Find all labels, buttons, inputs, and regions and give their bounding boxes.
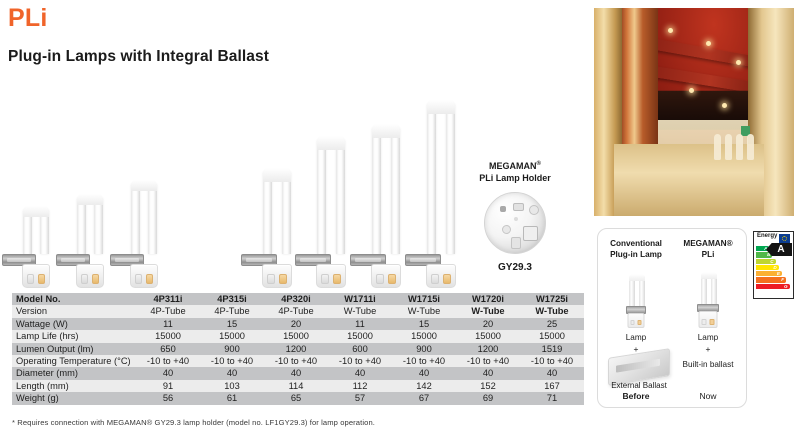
cell-weight-0: 56: [136, 392, 200, 404]
cell-lumen-2: 1200: [264, 343, 328, 355]
cell-wattage-2: 20: [264, 318, 328, 330]
cell-diameter-0: 40: [136, 367, 200, 379]
cell-temp-1: -10 to +40: [200, 355, 264, 367]
table-row-lamp-life: Lamp Life (hrs) 15000 15000 15000 15000 …: [12, 330, 584, 342]
table-row-model: Model No. 4P311i 4P315i 4P320i W1711i W1…: [12, 293, 584, 305]
holder-caption: PLi Lamp Holder: [455, 172, 575, 184]
cell-wattage-0: 11: [136, 318, 200, 330]
cell-length-2: 114: [264, 380, 328, 392]
cell-temp-2: -10 to +40: [264, 355, 328, 367]
cell-wattage-3: 11: [328, 318, 392, 330]
cell-lamplife-0: 15000: [136, 330, 200, 342]
conventional-title-line2: Plug-in Lamp: [602, 250, 670, 261]
lamp-4P320i: [126, 180, 162, 288]
cell-length-4: 142: [392, 380, 456, 392]
pli-title-line1: MEGAMAN®: [674, 239, 742, 250]
energy-bar-d: [756, 265, 791, 270]
cell-diameter-5: 40: [456, 367, 520, 379]
pli-item-builtin-ballast: Built-in ballast: [674, 359, 742, 371]
cell-wattage-6: 25: [520, 318, 584, 330]
row-label-model: Model No.: [12, 293, 136, 305]
table-row-diameter: Diameter (mm) 40 40 40 40 40 40 40: [12, 367, 584, 379]
energy-label: Energy A: [753, 231, 794, 299]
table-row-weight: Weight (g) 56 61 65 57 67 69 71: [12, 392, 584, 404]
eu-flag-icon: [779, 234, 790, 243]
pli-plus: +: [674, 344, 742, 355]
cell-model-4: W1715i: [392, 293, 456, 305]
cell-wattage-1: 15: [200, 318, 264, 330]
cell-model-6: W1725i: [520, 293, 584, 305]
page-title: PLi: [8, 6, 48, 31]
holder-brand: MEGAMAN: [489, 161, 537, 171]
cell-model-2: 4P320i: [264, 293, 328, 305]
cell-version-2: 4P-Tube: [264, 305, 328, 317]
specification-table: Model No. 4P311i 4P315i 4P320i W1711i W1…: [12, 293, 584, 405]
cell-lamplife-1: 15000: [200, 330, 264, 342]
cell-version-3: W-Tube: [328, 305, 392, 317]
lamp-W1720i: [367, 124, 405, 288]
cell-model-1: 4P315i: [200, 293, 264, 305]
lamp-W1711i: [258, 168, 296, 288]
cell-diameter-6: 40: [520, 367, 584, 379]
table-row-operating-temperature: Operating Temperature (°C) -10 to +40 -1…: [12, 355, 584, 367]
conventional-lamp-icon: [602, 266, 670, 328]
registered-mark: ®: [537, 161, 541, 167]
lamp-W1715i: [312, 136, 350, 288]
row-label-lamp-life: Lamp Life (hrs): [12, 330, 136, 342]
cell-lumen-5: 1200: [456, 343, 520, 355]
comparison-column-pli: MEGAMAN® PLi Lamp + Built-in ballast: [674, 239, 742, 371]
cell-length-3: 112: [328, 380, 392, 392]
energy-label-word: Energy: [757, 234, 777, 240]
lamp-holder-icon: [484, 192, 546, 254]
cell-lamplife-4: 15000: [392, 330, 456, 342]
cell-model-3: W1711i: [328, 293, 392, 305]
cell-version-0: 4P-Tube: [136, 305, 200, 317]
cell-weight-1: 61: [200, 392, 264, 404]
comparison-column-conventional: Conventional Plug-in Lamp Lamp +: [602, 239, 670, 355]
cell-model-5: W1720i: [456, 293, 520, 305]
table-row-length: Length (mm) 91 103 114 112 142 152 167: [12, 380, 584, 392]
cell-temp-0: -10 to +40: [136, 355, 200, 367]
cell-lamplife-5: 15000: [456, 330, 520, 342]
table-row-lumen-output: Lumen Output (lm) 650 900 1200 600 900 1…: [12, 343, 584, 355]
cell-length-0: 91: [136, 380, 200, 392]
cell-weight-2: 65: [264, 392, 328, 404]
row-label-wattage: Wattage (W): [12, 318, 136, 330]
cell-lumen-0: 650: [136, 343, 200, 355]
cell-diameter-1: 40: [200, 367, 264, 379]
cell-lumen-4: 900: [392, 343, 456, 355]
comparison-foot-now: Now: [674, 391, 742, 401]
cell-diameter-3: 40: [328, 367, 392, 379]
cell-lamplife-6: 15000: [520, 330, 584, 342]
conventional-item-lamp: Lamp: [602, 332, 670, 344]
cell-version-5: W-Tube: [456, 305, 520, 317]
cell-length-6: 167: [520, 380, 584, 392]
comparison-foot-before: Before: [602, 391, 670, 401]
energy-bar-e: [756, 271, 791, 276]
cell-temp-3: -10 to +40: [328, 355, 392, 367]
cell-weight-5: 69: [456, 392, 520, 404]
cell-temp-4: -10 to +40: [392, 355, 456, 367]
table-row-wattage: Wattage (W) 11 15 20 11 15 20 25: [12, 318, 584, 330]
cell-weight-6: 71: [520, 392, 584, 404]
cell-lumen-6: 1519: [520, 343, 584, 355]
cell-weight-3: 57: [328, 392, 392, 404]
product-datasheet-page: PLi Plug-in Lamps with Integral Ballast …: [0, 0, 800, 441]
pli-item-lamp: Lamp: [674, 332, 742, 344]
pli-title-line2: PLi: [674, 250, 742, 261]
lamp-4P311i: [18, 206, 54, 288]
cell-length-1: 103: [200, 380, 264, 392]
cell-temp-6: -10 to +40: [520, 355, 584, 367]
holder-brand-line: MEGAMAN®: [455, 158, 575, 172]
cell-wattage-4: 15: [392, 318, 456, 330]
lamp-4P315i: [72, 194, 108, 288]
row-label-operating-temperature: Operating Temperature (°C): [12, 355, 136, 367]
lamp-holder-block: MEGAMAN® PLi Lamp Holder GY29.3: [455, 158, 575, 273]
cell-wattage-5: 20: [456, 318, 520, 330]
cell-version-1: 4P-Tube: [200, 305, 264, 317]
row-label-diameter: Diameter (mm): [12, 367, 136, 379]
energy-rating-value: A: [773, 245, 784, 255]
pli-lamp-icon: [674, 266, 742, 328]
before-after-comparison-panel: Conventional Plug-in Lamp Lamp + MEGAMAN…: [597, 228, 747, 408]
cell-length-5: 152: [456, 380, 520, 392]
cell-lumen-1: 900: [200, 343, 264, 355]
table-row-version: Version 4P-Tube 4P-Tube 4P-Tube W-Tube W…: [12, 305, 584, 317]
cell-weight-4: 67: [392, 392, 456, 404]
cell-lamplife-2: 15000: [264, 330, 328, 342]
cell-version-4: W-Tube: [392, 305, 456, 317]
external-ballast-label: External Ballast: [602, 381, 676, 390]
conventional-title-line1: Conventional: [602, 239, 670, 250]
row-label-weight: Weight (g): [12, 392, 136, 404]
page-subtitle: Plug-in Lamps with Integral Ballast: [8, 48, 269, 66]
cell-diameter-4: 40: [392, 367, 456, 379]
cell-version-6: W-Tube: [520, 305, 584, 317]
footnote: * Requires connection with MEGAMAN® GY29…: [12, 418, 375, 427]
row-label-lumen-output: Lumen Output (lm): [12, 343, 136, 355]
energy-bar-g: [756, 284, 791, 289]
row-label-length: Length (mm): [12, 380, 136, 392]
cell-model-0: 4P311i: [136, 293, 200, 305]
holder-model-name: GY29.3: [455, 262, 575, 273]
cell-lumen-3: 600: [328, 343, 392, 355]
row-label-version: Version: [12, 305, 136, 317]
cell-diameter-2: 40: [264, 367, 328, 379]
application-photo: [594, 8, 794, 216]
cell-lamplife-3: 15000: [328, 330, 392, 342]
cell-temp-5: -10 to +40: [456, 355, 520, 367]
